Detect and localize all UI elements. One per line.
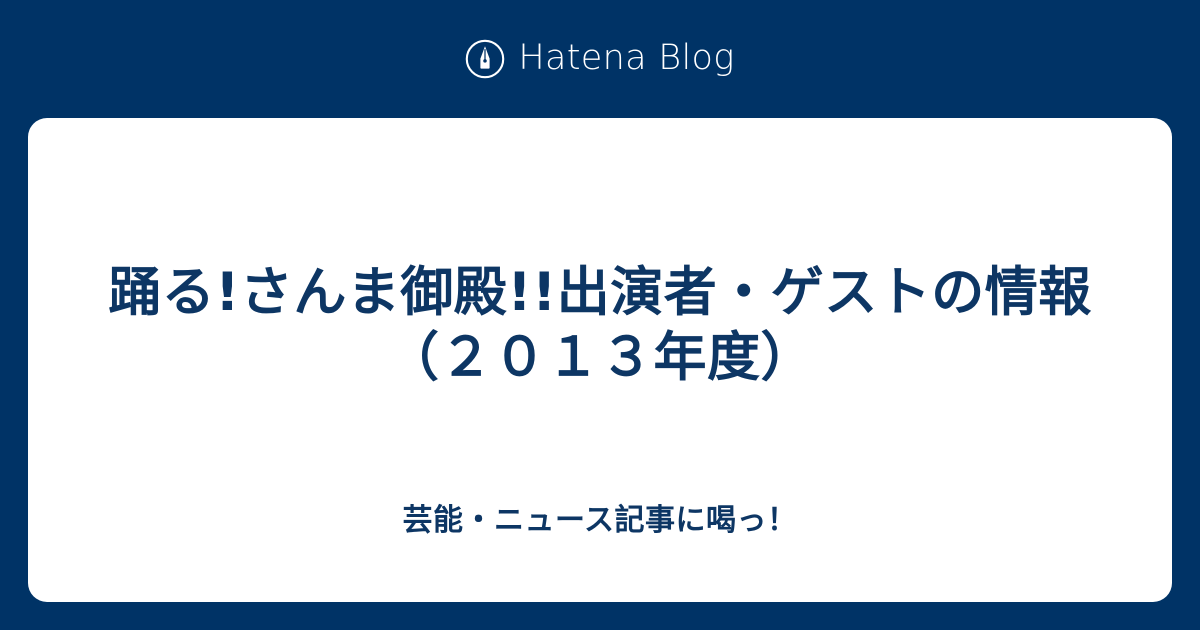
- blog-name: 芸能・ニュース記事に喝っ！: [88, 500, 1112, 542]
- hatena-pen-nib-icon: [465, 39, 505, 79]
- brand-header: Hatena Blog: [0, 0, 1200, 118]
- brand-name: Hatena Blog: [518, 41, 734, 76]
- og-image-canvas: Hatena Blog 踊る!さんま御殿!!出演者・ゲストの情報（２０１３年度）…: [0, 0, 1200, 630]
- entry-title: 踊る!さんま御殿!!出演者・ゲストの情報（２０１３年度）: [88, 260, 1112, 390]
- entry-card: 踊る!さんま御殿!!出演者・ゲストの情報（２０１３年度） 芸能・ニュース記事に喝…: [28, 118, 1172, 602]
